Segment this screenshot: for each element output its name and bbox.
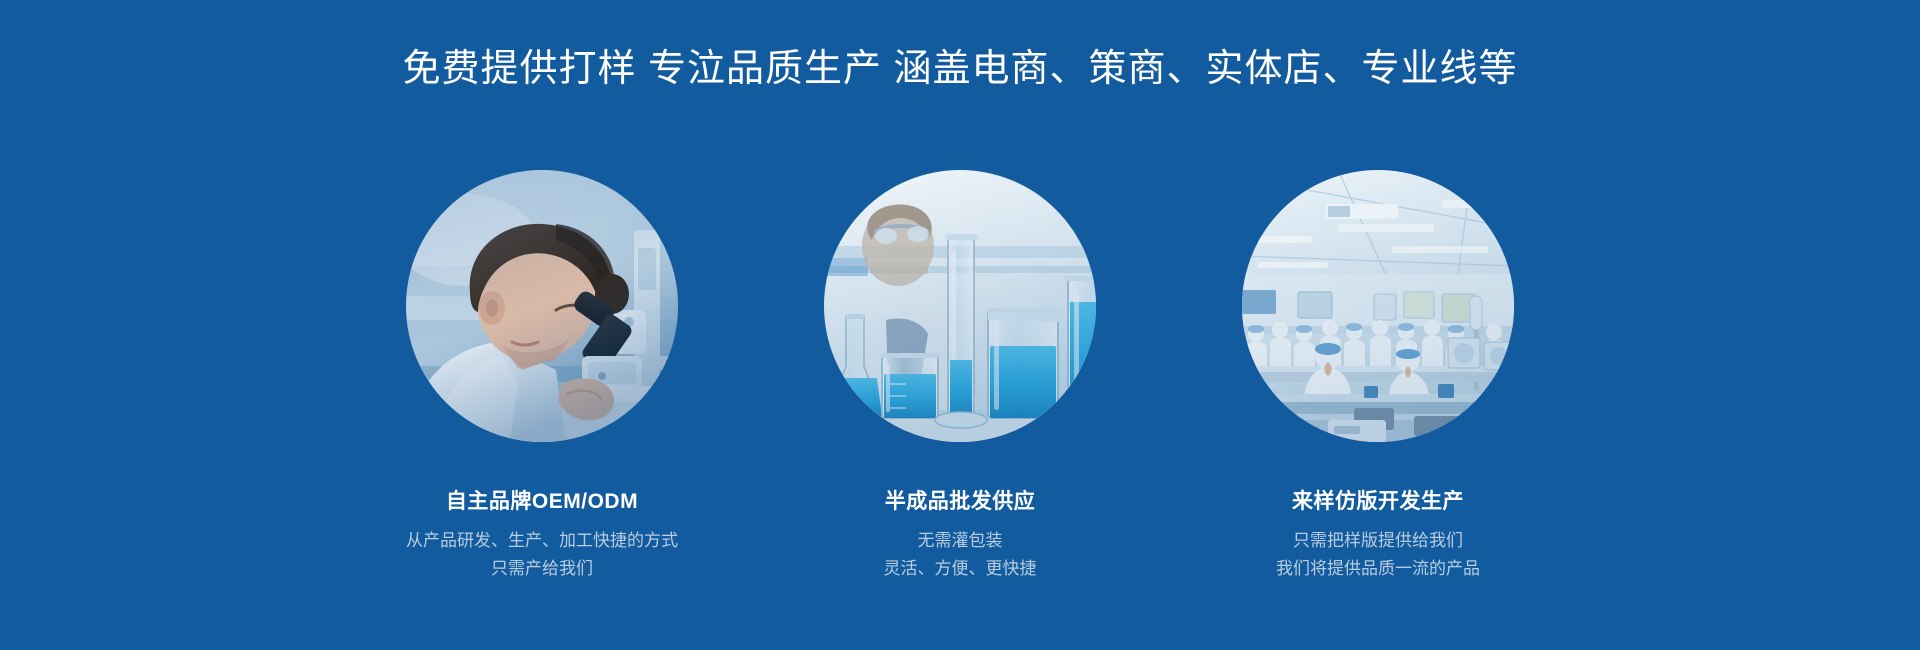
scientist-microscope-photo: [406, 170, 678, 442]
card-description: 从产品研发、生产、加工快捷的方式 只需产给我们: [406, 527, 678, 583]
card-desc-line: 灵活、方便、更快捷: [884, 555, 1037, 583]
feature-card[interactable]: 自主品牌OEM/ODM 从产品研发、生产、加工快捷的方式 只需产给我们: [372, 170, 712, 583]
cleanroom-factory-photo: [1242, 170, 1514, 442]
banner-headline: 免费提供打样 专泣品质生产 涵盖电商、策商、实体店、专业线等: [0, 46, 1920, 94]
card-desc-line: 我们将提供品质一流的产品: [1276, 555, 1480, 583]
promo-banner: 免费提供打样 专泣品质生产 涵盖电商、策商、实体店、专业线等: [0, 0, 1920, 650]
feature-card[interactable]: 半成品批发供应 无需灌包装 灵活、方便、更快捷: [790, 170, 1130, 583]
card-desc-line: 只需把样版提供给我们: [1276, 527, 1480, 555]
card-title: 来样仿版开发生产: [1292, 488, 1464, 515]
card-description: 无需灌包装 灵活、方便、更快捷: [884, 527, 1037, 583]
card-desc-line: 无需灌包装: [884, 527, 1037, 555]
card-description: 只需把样版提供给我们 我们将提供品质一流的产品: [1276, 527, 1480, 583]
card-desc-line: 从产品研发、生产、加工快捷的方式: [406, 527, 678, 555]
card-title: 半成品批发供应: [885, 488, 1036, 515]
card-desc-line: 只需产给我们: [406, 555, 678, 583]
feature-card-list: 自主品牌OEM/ODM 从产品研发、生产、加工快捷的方式 只需产给我们: [0, 170, 1920, 583]
card-title: 自主品牌OEM/ODM: [446, 488, 638, 515]
feature-card[interactable]: 来样仿版开发生产 只需把样版提供给我们 我们将提供品质一流的产品: [1208, 170, 1548, 583]
lab-glassware-photo: [824, 170, 1096, 442]
